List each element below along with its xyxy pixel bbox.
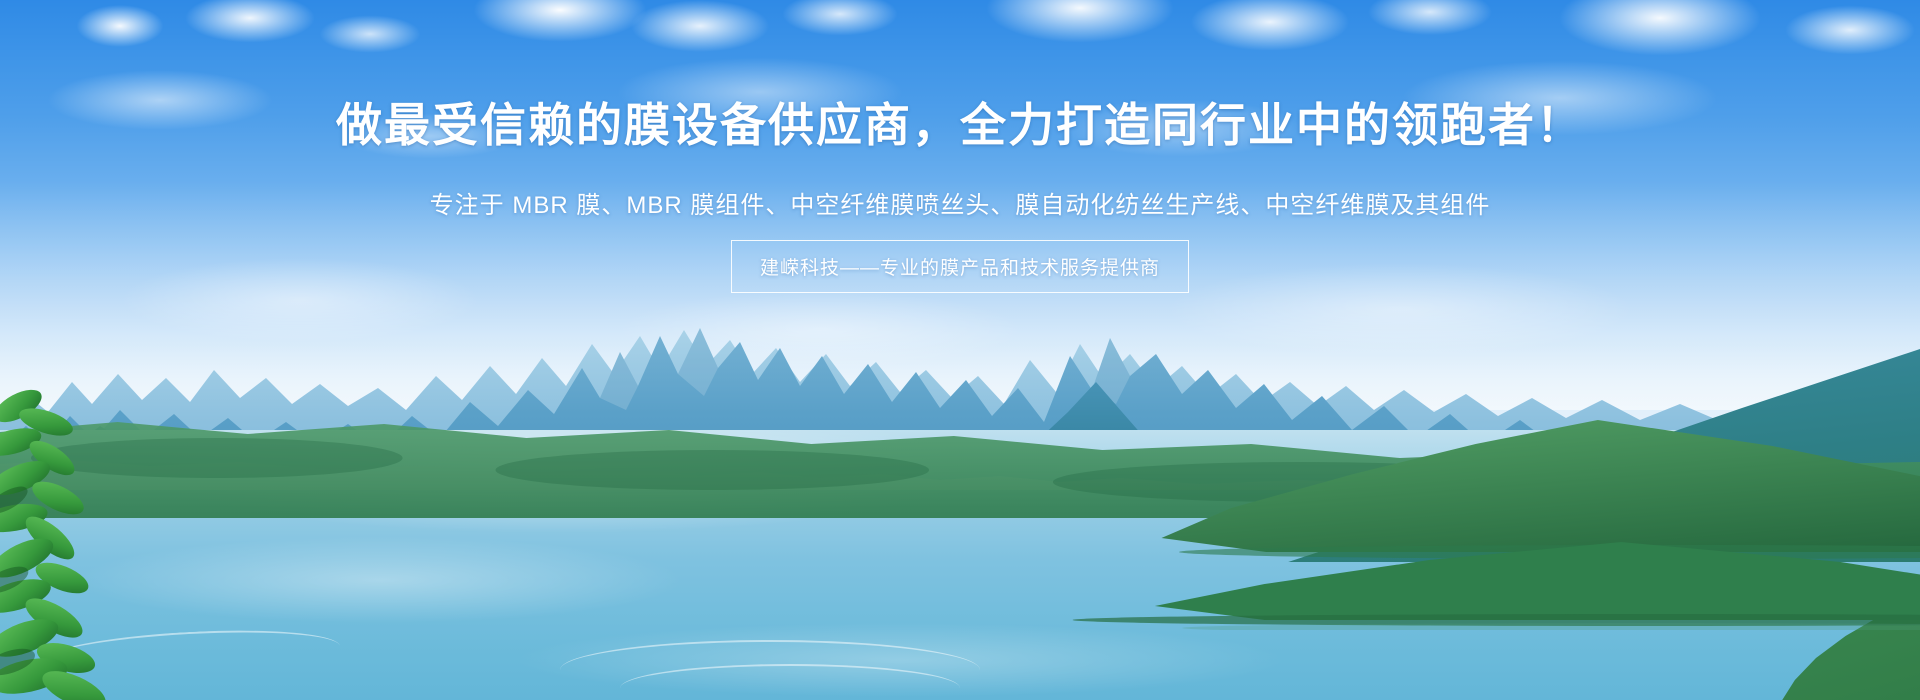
tagline-wrapper: 建嵘科技——专业的膜产品和技术服务提供商 xyxy=(0,240,1920,293)
tagline-box: 建嵘科技——专业的膜产品和技术服务提供商 xyxy=(731,240,1189,293)
banner-copy: 做最受信赖的膜设备供应商，全力打造同行业中的领跑者！ 专注于 MBR 膜、MBR… xyxy=(0,0,1920,700)
page-title: 做最受信赖的膜设备供应商，全力打造同行业中的领跑者！ xyxy=(0,100,1920,151)
hero-banner: 做最受信赖的膜设备供应商，全力打造同行业中的领跑者！ 专注于 MBR 膜、MBR… xyxy=(0,0,1920,700)
banner-subtitle: 专注于 MBR 膜、MBR 膜组件、中空纤维膜喷丝头、膜自动化纺丝生产线、中空纤… xyxy=(0,185,1920,220)
